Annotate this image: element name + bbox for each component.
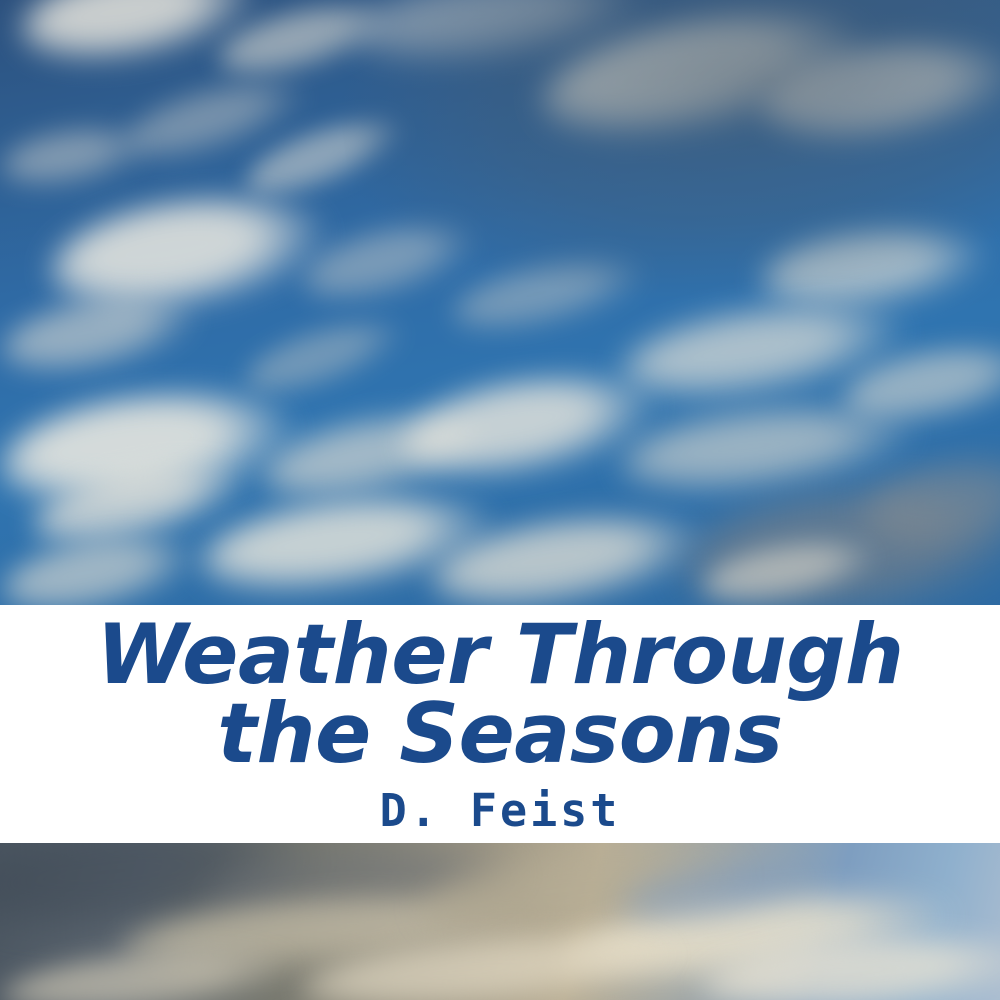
cloud-shape bbox=[615, 290, 914, 415]
cloud-shape bbox=[210, 0, 399, 91]
cloud-shape bbox=[855, 447, 1000, 564]
cloud-shape bbox=[236, 103, 415, 213]
cloud-shape bbox=[617, 849, 823, 936]
cloud-shape bbox=[417, 843, 754, 950]
author-name: D. Feist bbox=[380, 788, 621, 833]
cloud-shape bbox=[0, 377, 306, 523]
cloud-shape bbox=[255, 399, 495, 517]
cloud-shape bbox=[425, 501, 714, 608]
cloud-shape bbox=[698, 926, 1000, 1000]
cloud-shape bbox=[115, 65, 314, 175]
cloud-shape bbox=[755, 30, 1000, 156]
book-title-line-1: Weather Through bbox=[96, 615, 903, 696]
cloud-shape bbox=[295, 209, 485, 316]
cloud-shape bbox=[756, 218, 993, 322]
book-title-line-2: the Seasons bbox=[217, 694, 782, 775]
cloud-shape bbox=[0, 119, 153, 197]
cloud-shape bbox=[347, 0, 654, 75]
cloud-shape bbox=[533, 0, 877, 158]
cloud-shape bbox=[0, 523, 205, 608]
lower-sky-image bbox=[0, 843, 1000, 1000]
cloud-shape bbox=[298, 922, 683, 1000]
cloud-shape bbox=[196, 482, 505, 608]
cloud-shape bbox=[675, 475, 1000, 608]
cloud-shape bbox=[617, 395, 924, 506]
cloud-shape bbox=[197, 843, 532, 944]
cloud-shape bbox=[0, 843, 324, 948]
cloud-shape bbox=[44, 181, 337, 329]
upper-sky-image bbox=[0, 0, 1000, 608]
title-band: Weather Through the Seasons D. Feist bbox=[0, 605, 1000, 843]
cloud-shape bbox=[15, 0, 265, 76]
book-cover: Weather Through the Seasons D. Feist bbox=[0, 0, 1000, 1000]
cloud-shape bbox=[118, 883, 542, 982]
cloud-shape bbox=[0, 940, 302, 1000]
cloud-shape bbox=[446, 245, 654, 345]
cloud-shape bbox=[557, 877, 963, 998]
cloud-shape bbox=[236, 305, 415, 410]
cloud-shape bbox=[835, 333, 1000, 437]
cloud-shape bbox=[0, 283, 205, 387]
cloud-shape bbox=[394, 360, 666, 495]
cloud-shape bbox=[25, 448, 255, 562]
cloud-shape bbox=[697, 530, 884, 608]
